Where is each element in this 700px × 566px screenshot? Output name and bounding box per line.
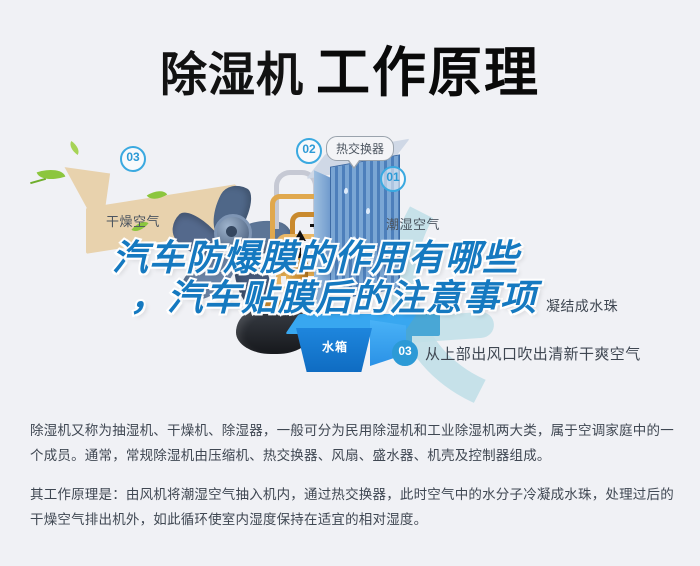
- dry-air-arrow-head: [56, 167, 110, 235]
- label-dry-air: 干燥空气: [106, 211, 160, 230]
- infographic-page: 除湿机工作原理: [0, 0, 700, 566]
- flow-arrow-up-icon: [294, 230, 306, 241]
- caption-outlet: 03 从上部出风口吹出清新干爽空气: [392, 340, 641, 366]
- badge-step-01: 01: [380, 166, 406, 192]
- heat-exchanger-side: [314, 170, 331, 310]
- leaf-icon: [67, 141, 82, 155]
- badge-outlet-03: 03: [392, 340, 418, 366]
- article-body: 除湿机又称为抽湿机、干燥机、除湿器，一般可分为民用除湿机和工业除湿机两大类，属于…: [30, 418, 678, 532]
- water-tank-label: 水箱: [322, 338, 348, 355]
- page-title-primary: 除湿机: [160, 48, 304, 101]
- caption-outlet-text: 从上部出风口吹出清新干爽空气: [425, 343, 641, 364]
- body-paragraph-1: 除湿机又称为抽湿机、干燥机、除湿器，一般可分为民用除湿机和工业除湿机两大类，属于…: [30, 418, 678, 468]
- leaf-stem-icon: [30, 178, 46, 184]
- flow-arrow-stem: [298, 240, 301, 258]
- label-humid-air: 潮湿空气: [386, 214, 440, 233]
- coil-canister: [286, 254, 308, 294]
- body-paragraph-2: 其工作原理是：由风机将潮湿空气抽入机内，通过热交换器，此时空气中的水分子冷凝成水…: [30, 482, 678, 532]
- caption-condensation: 凝结成水珠: [546, 296, 618, 316]
- fan-hub: [214, 214, 252, 252]
- badge-step-03: 03: [120, 146, 146, 172]
- badge-step-02: 02: [296, 138, 322, 164]
- page-title-secondary: 工作原理: [316, 43, 540, 103]
- label-heat-exchanger: 热交换器: [326, 136, 394, 161]
- page-title: 除湿机工作原理: [0, 28, 700, 107]
